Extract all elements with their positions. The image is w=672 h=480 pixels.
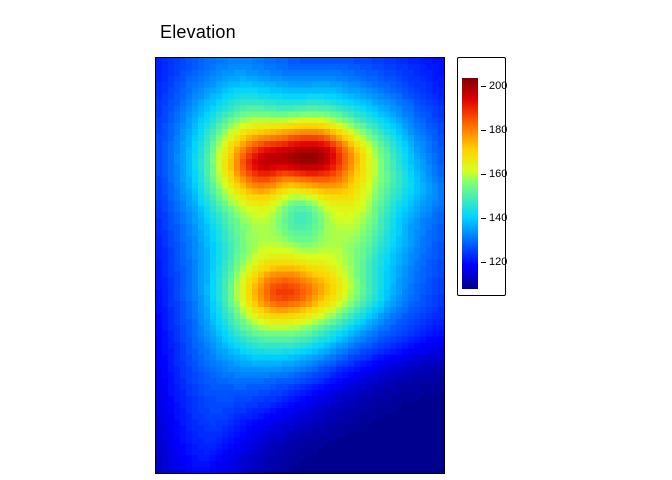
tick-mark-icon bbox=[481, 218, 486, 219]
page-title: Elevation bbox=[160, 22, 236, 43]
colorbar-gradient bbox=[462, 78, 478, 289]
elevation-raster-panel bbox=[155, 57, 445, 474]
colorbar-tick-label: 140 bbox=[489, 213, 507, 224]
colorbar-tick-label: 180 bbox=[489, 125, 507, 136]
tick-mark-icon bbox=[481, 174, 486, 175]
tick-mark-icon bbox=[481, 86, 486, 87]
colorbar-canvas bbox=[462, 78, 478, 289]
colorbar-tick-label: 120 bbox=[489, 257, 507, 268]
tick-mark-icon bbox=[481, 130, 486, 131]
tick-mark-icon bbox=[481, 262, 486, 263]
elevation-heatmap bbox=[156, 58, 444, 473]
colorbar-tick-label: 160 bbox=[489, 169, 507, 180]
figure-canvas: Elevation 200180160140120 bbox=[0, 0, 672, 480]
colorbar-tick-label: 200 bbox=[489, 81, 507, 92]
